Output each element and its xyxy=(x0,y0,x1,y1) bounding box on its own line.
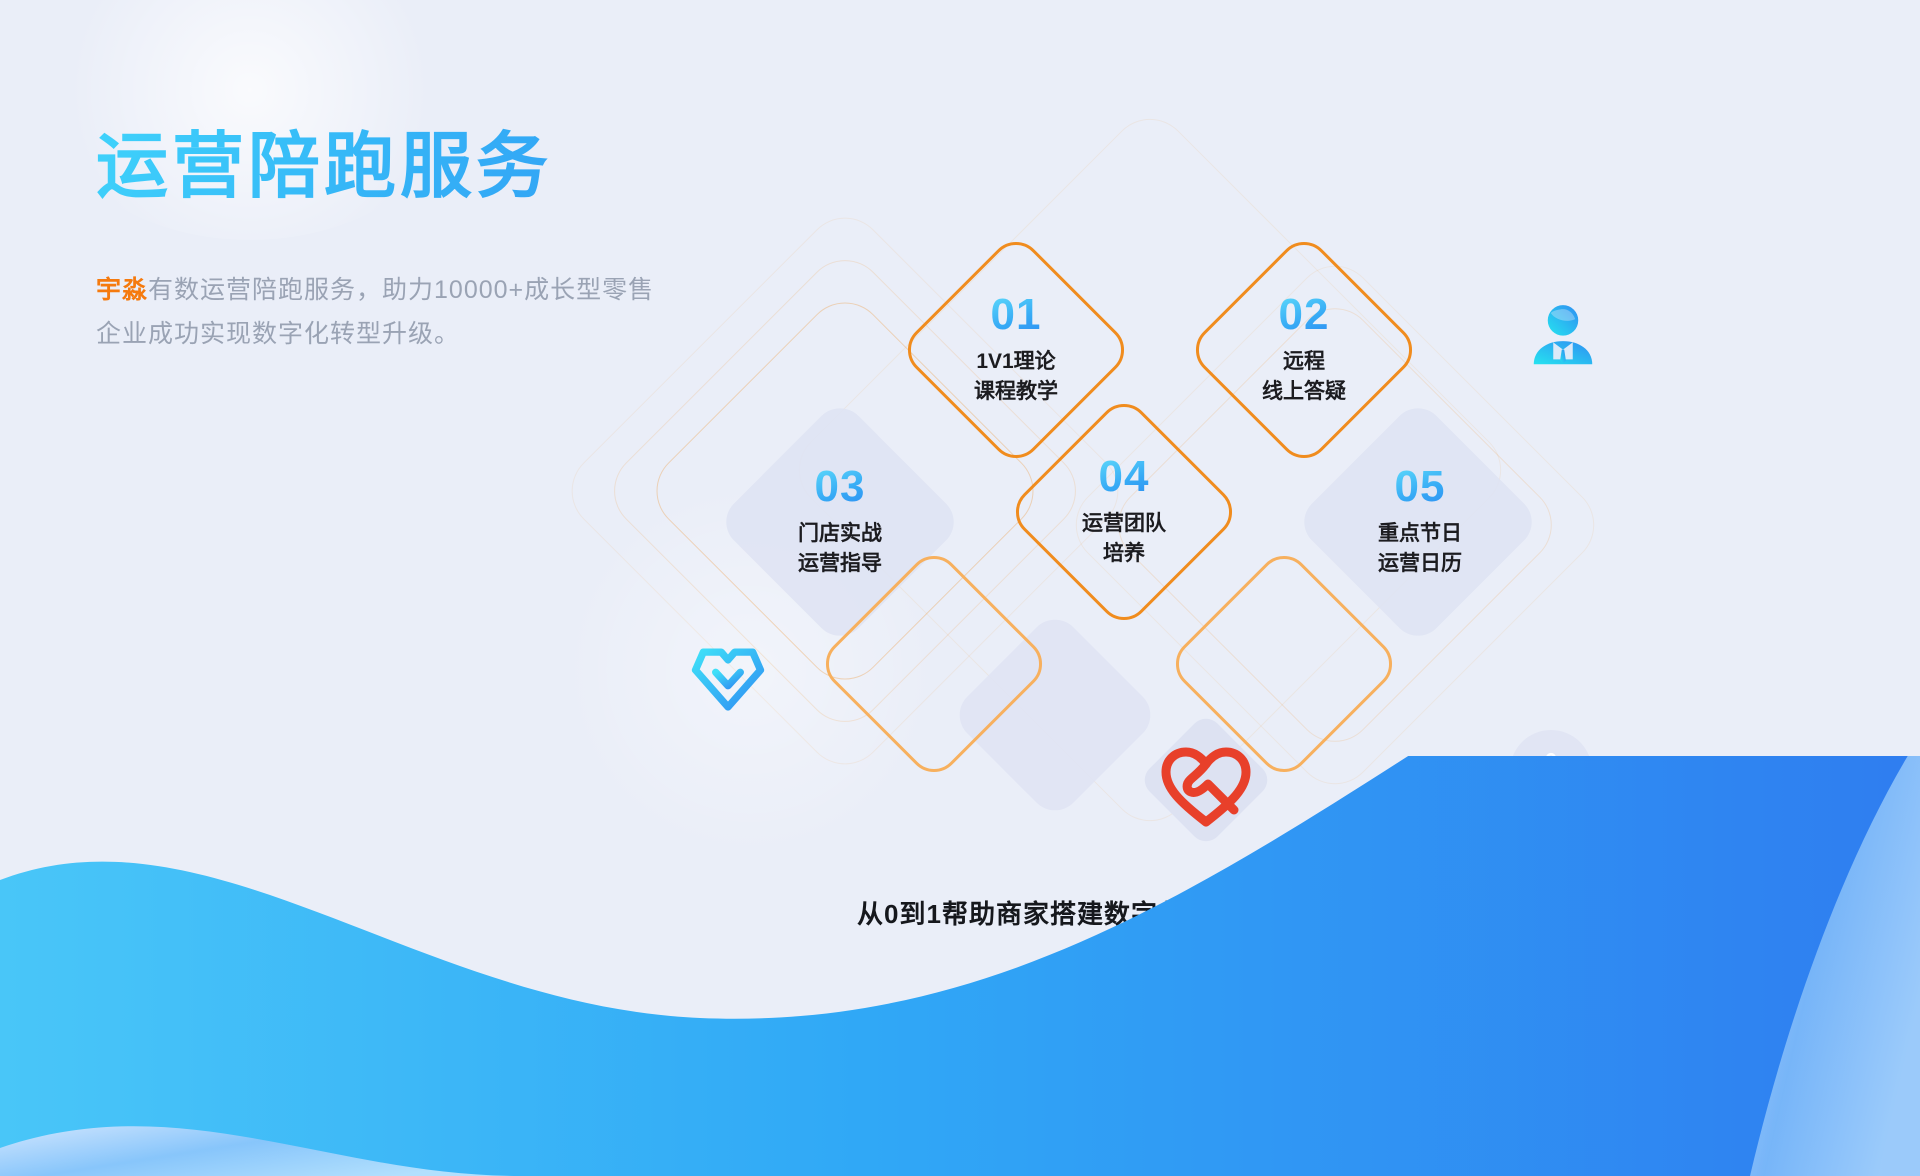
card-04-line2: 培养 xyxy=(1103,539,1145,569)
decorative-waves xyxy=(0,756,1920,1176)
card-01-number: 01 xyxy=(991,293,1042,337)
card-03[interactable]: 03 门店实战 运营指导 xyxy=(721,403,959,641)
card-05[interactable]: 05 重点节日 运营日历 xyxy=(1301,403,1539,641)
person-avatar-icon xyxy=(1524,296,1602,374)
card-01-line2: 课程教学 xyxy=(974,377,1058,407)
wave-cyan xyxy=(0,756,1920,1176)
card-02-line1: 远程 xyxy=(1283,347,1325,377)
card-04-number: 04 xyxy=(1099,455,1150,499)
card-04-line1: 运营团队 xyxy=(1082,509,1166,539)
card-03-line1: 门店实战 xyxy=(798,519,882,549)
card-02-number: 02 xyxy=(1279,293,1330,337)
card-02-line2: 线上答疑 xyxy=(1262,377,1346,407)
card-05-line2: 运营日历 xyxy=(1378,549,1462,579)
page-title: 运营陪跑服务 xyxy=(96,128,856,207)
card-01-line1: 1V1理论 xyxy=(976,347,1055,377)
card-05-number: 05 xyxy=(1395,465,1446,509)
subtitle-line1: 有数运营陪跑服务，助力10000+成长型零售 xyxy=(148,276,654,304)
card-03-line2: 运营指导 xyxy=(798,549,882,579)
card-03-number: 03 xyxy=(815,465,866,509)
brand-name: 宇淼 xyxy=(96,276,148,304)
gem-check-icon xyxy=(688,642,768,716)
card-05-line1: 重点节日 xyxy=(1378,519,1462,549)
